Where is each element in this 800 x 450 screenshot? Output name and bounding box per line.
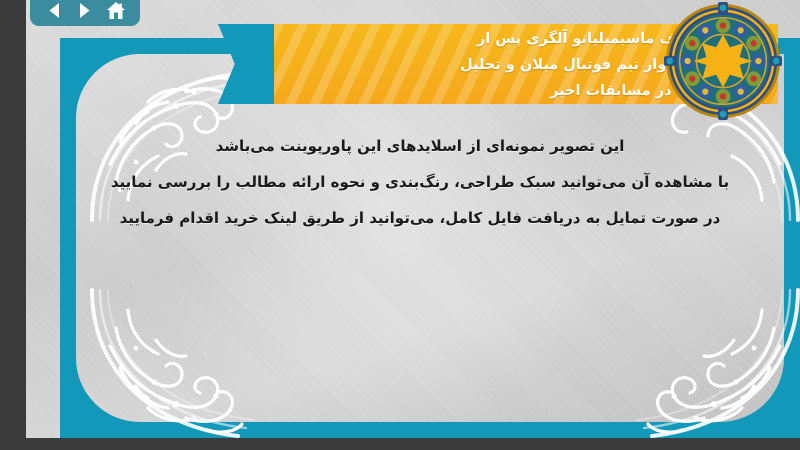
home-icon xyxy=(106,1,126,20)
navigation-bar[interactable] xyxy=(30,0,140,26)
home-button[interactable] xyxy=(105,0,127,20)
slide-body-text: این تصویر نمونه‌ای از اسلایدهای این پاور… xyxy=(86,128,754,236)
back-arrow-icon xyxy=(46,2,63,19)
body-line: این تصویر نمونه‌ای از اسلایدهای این پاور… xyxy=(86,128,754,164)
banner-tail-shape xyxy=(218,24,278,104)
forward-button[interactable] xyxy=(74,0,96,20)
screen: این تصویر نمونه‌ای از اسلایدهای این پاور… xyxy=(0,0,800,450)
forward-arrow-icon xyxy=(76,2,93,19)
islamic-medallion-icon xyxy=(664,2,782,120)
slide-canvas: این تصویر نمونه‌ای از اسلایدهای این پاور… xyxy=(26,0,800,438)
body-line: با مشاهده آن می‌توانید سبک طراحی، رنگ‌بن… xyxy=(86,164,754,200)
body-line: در صورت تمایل به دریافت فایل کامل، می‌تو… xyxy=(86,200,754,236)
back-button[interactable] xyxy=(43,0,65,20)
